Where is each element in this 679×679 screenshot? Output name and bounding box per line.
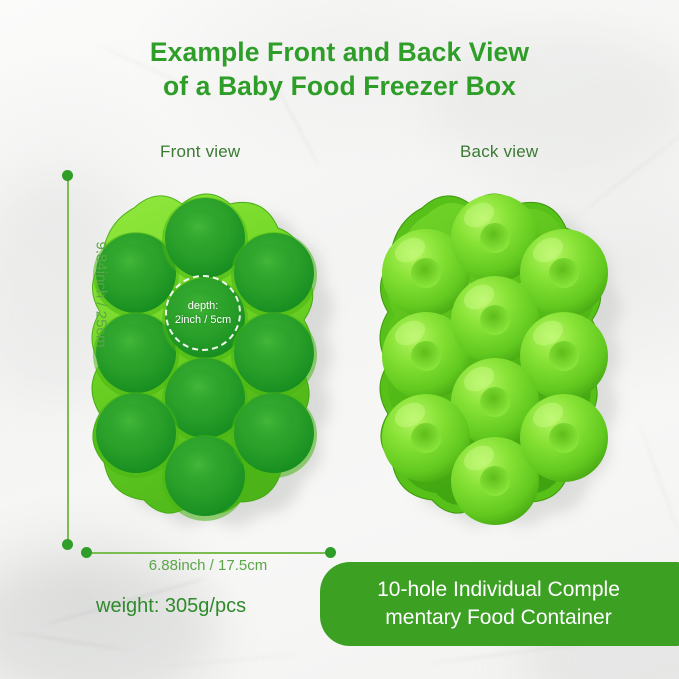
- width-dimension-label: 6.88inch / 17.5cm: [86, 557, 330, 574]
- front-view-tray: [82, 190, 332, 540]
- front-tray-cavities: [93, 197, 317, 521]
- page-title: Example Front and Back View of a Baby Fo…: [0, 36, 679, 104]
- height-guide-dot-bottom: [62, 539, 73, 550]
- cavity: [231, 392, 317, 478]
- back-tray-domes: [382, 194, 608, 525]
- width-guide-line: [86, 552, 330, 554]
- back-view-tray: [372, 188, 622, 538]
- title-line-1: Example Front and Back View: [0, 36, 679, 70]
- back-view-label: Back view: [460, 142, 538, 162]
- title-line-2: of a Baby Food Freezer Box: [0, 70, 679, 104]
- height-guide-dot-top: [62, 170, 73, 181]
- back-tray-graphic: [372, 188, 622, 538]
- height-guide-line: [67, 176, 69, 544]
- depth-label: depth:: [188, 299, 219, 313]
- front-view-label: Front view: [160, 142, 240, 162]
- banner-line-2: mentary Food Container: [385, 604, 611, 632]
- front-tray-graphic: [82, 190, 332, 540]
- depth-callout: depth: 2inch / 5cm: [165, 275, 241, 351]
- product-infographic: Example Front and Back View of a Baby Fo…: [0, 0, 679, 679]
- dome: [520, 394, 608, 482]
- banner-line-1: 10-hole Individual Comple: [377, 576, 620, 604]
- weight-label: weight: 305g/pcs: [96, 595, 246, 618]
- depth-value: 2inch / 5cm: [175, 313, 231, 327]
- product-name-banner: 10-hole Individual Comple mentary Food C…: [320, 562, 679, 646]
- height-dimension-label: 9.84inch / 25cm: [93, 220, 110, 370]
